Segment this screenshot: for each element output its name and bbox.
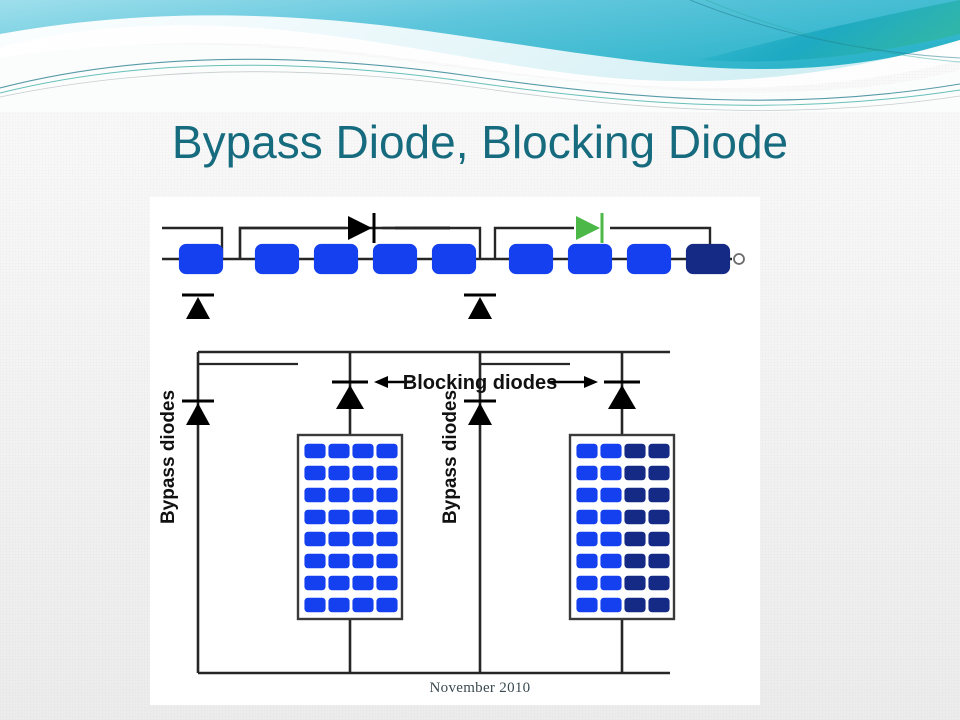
- slide-date-footer: November 2010: [0, 680, 960, 697]
- header-wave-decoration: [0, 0, 960, 112]
- string-cell-row: [179, 244, 730, 274]
- bypass-diodes-right-label: Bypass diodes: [440, 390, 461, 524]
- left-panel: [298, 435, 402, 619]
- string-terminal-icon: [734, 254, 744, 264]
- string-cell: [255, 244, 299, 274]
- blocking-diodes-label: Blocking diodes: [403, 372, 557, 394]
- string-cell: [314, 244, 358, 274]
- diagram-image: Blocking diodes Bypass diodes Bypass dio…: [150, 197, 760, 705]
- right-panel: [570, 435, 674, 619]
- string-cell: [179, 244, 223, 274]
- bypass-diodes-left-label: Bypass diodes: [158, 390, 179, 524]
- string-cell: [373, 244, 417, 274]
- slide-canvas: Bypass Diode, Blocking Diode: [0, 0, 960, 720]
- string-cell-shaded: [686, 244, 730, 274]
- string-cell: [509, 244, 553, 274]
- string-cell: [568, 244, 612, 274]
- string-cell: [432, 244, 476, 274]
- page-title: Bypass Diode, Blocking Diode: [0, 116, 960, 169]
- string-cell: [627, 244, 671, 274]
